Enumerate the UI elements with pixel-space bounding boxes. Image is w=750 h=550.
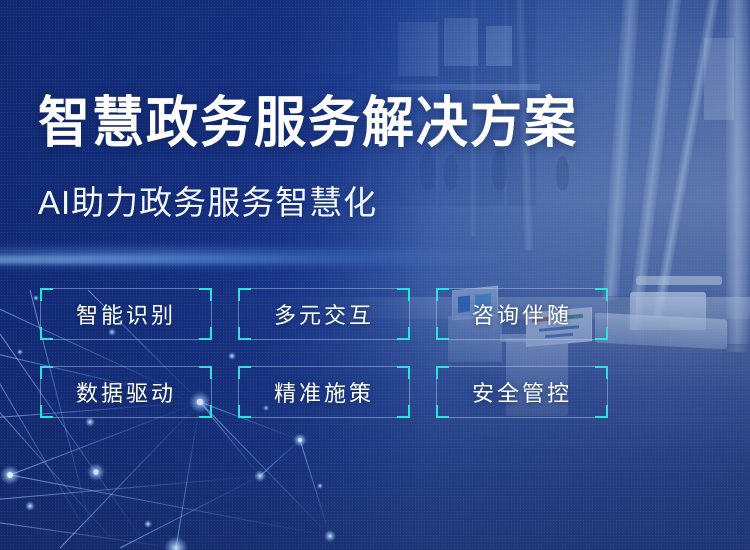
corner-bracket-icon: [436, 327, 449, 340]
corner-bracket-icon: [238, 405, 251, 418]
feature-tag-label: 咨询伴随: [472, 298, 572, 330]
banner-content: 智慧政务服务解决方案 AI助力政务服务智慧化 智能识别 多元交互: [0, 0, 750, 550]
feature-tag-precise-policy[interactable]: 精准施策: [238, 366, 410, 418]
solution-banner: 智慧政务服务解决方案 AI助力政务服务智慧化 智能识别 多元交互: [0, 0, 750, 550]
corner-bracket-icon: [595, 288, 608, 301]
corner-bracket-icon: [397, 327, 410, 340]
feature-tag-grid: 智能识别 多元交互 咨询伴随 数据驱动: [40, 288, 608, 418]
feature-tag-intelligent-recognition[interactable]: 智能识别: [40, 288, 212, 340]
feature-tag-label: 安全管控: [472, 376, 572, 408]
feature-tag-multimodal-interaction[interactable]: 多元交互: [238, 288, 410, 340]
corner-bracket-icon: [40, 405, 53, 418]
corner-bracket-icon: [436, 366, 449, 379]
corner-bracket-icon: [40, 327, 53, 340]
corner-bracket-icon: [40, 288, 53, 301]
corner-bracket-icon: [199, 327, 212, 340]
corner-bracket-icon: [397, 366, 410, 379]
corner-bracket-icon: [238, 288, 251, 301]
corner-bracket-icon: [397, 288, 410, 301]
corner-bracket-icon: [397, 405, 410, 418]
feature-tag-security-control[interactable]: 安全管控: [436, 366, 608, 418]
corner-bracket-icon: [238, 327, 251, 340]
feature-tag-label: 数据驱动: [76, 376, 176, 408]
feature-tag-consultation-companion[interactable]: 咨询伴随: [436, 288, 608, 340]
corner-bracket-icon: [595, 366, 608, 379]
page-title: 智慧政务服务解决方案: [38, 96, 578, 151]
corner-bracket-icon: [436, 405, 449, 418]
page-subtitle: AI助力政务服务智慧化: [38, 186, 377, 219]
feature-tag-label: 精准施策: [274, 376, 374, 408]
corner-bracket-icon: [199, 366, 212, 379]
corner-bracket-icon: [199, 405, 212, 418]
corner-bracket-icon: [436, 288, 449, 301]
corner-bracket-icon: [40, 366, 53, 379]
corner-bracket-icon: [199, 288, 212, 301]
corner-bracket-icon: [595, 405, 608, 418]
feature-tag-data-driven[interactable]: 数据驱动: [40, 366, 212, 418]
corner-bracket-icon: [595, 327, 608, 340]
feature-tag-label: 智能识别: [76, 298, 176, 330]
feature-tag-label: 多元交互: [274, 298, 374, 330]
corner-bracket-icon: [238, 366, 251, 379]
